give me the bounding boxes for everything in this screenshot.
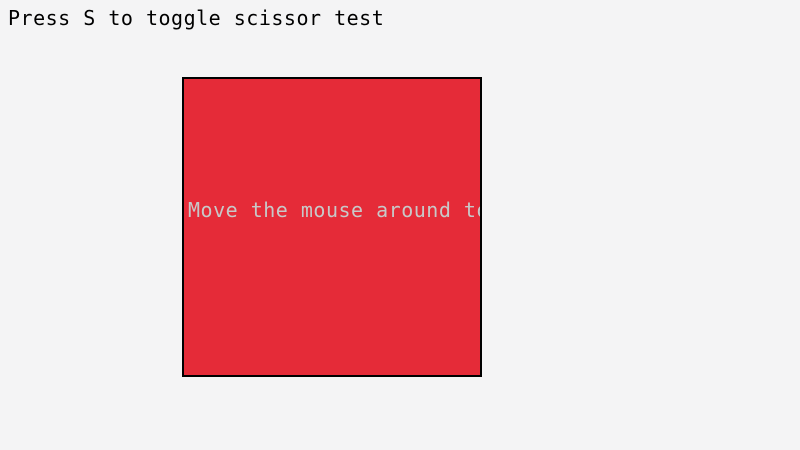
scissor-clipped-text: Move the mouse around to reveal the hidd… [188, 199, 482, 221]
hint-text: Press S to toggle scissor test [8, 7, 384, 29]
scissor-rectangle[interactable]: Move the mouse around to reveal the hidd… [182, 77, 482, 377]
scissor-fill [184, 79, 480, 375]
app-window: Press S to toggle scissor test Move the … [0, 0, 800, 450]
